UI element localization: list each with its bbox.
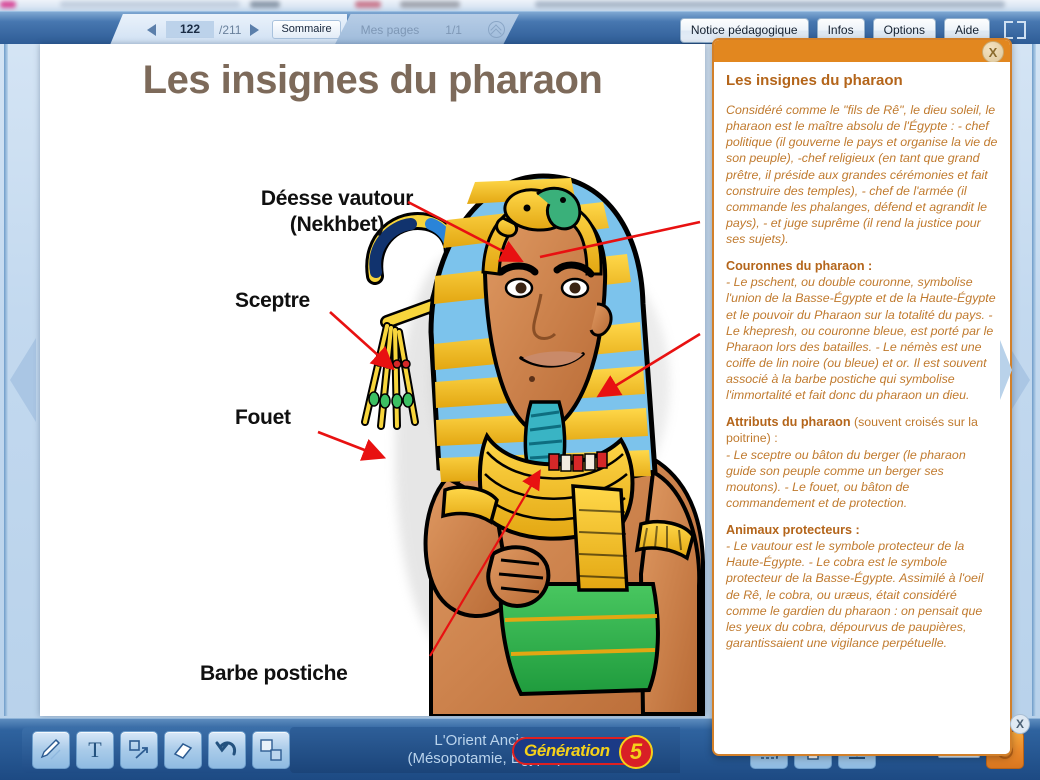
info-heading-text: - Le sceptre ou bâton du berger (le phar… xyxy=(726,448,966,510)
next-page-button[interactable] xyxy=(245,21,263,39)
left-rail xyxy=(4,44,8,716)
info-overlay-panel[interactable]: X Les insignes du pharaon Considéré comm… xyxy=(712,38,1012,756)
mask-squares-icon[interactable] xyxy=(252,731,290,769)
tab-mes-pages[interactable]: Mes pages 1/1 xyxy=(335,14,519,45)
brand-text: Génération xyxy=(524,741,610,761)
page-total-label: /211 xyxy=(218,23,241,37)
callout-deesse-vautour: Déesse vautour (Nekhbet) xyxy=(232,186,442,239)
mes-pages-count: 1/1 xyxy=(445,23,462,37)
chevron-double-up-icon[interactable] xyxy=(488,21,505,38)
close-icon[interactable]: X xyxy=(982,41,1004,63)
shape-arrow-icon[interactable] xyxy=(120,731,158,769)
annotation-tools-group: T xyxy=(22,727,300,773)
info-panel-body[interactable]: Les insignes du pharaon Considéré comme … xyxy=(714,62,1010,754)
info-panel-header: X xyxy=(714,40,1010,62)
generation5-logo[interactable]: Génération 5 xyxy=(512,737,646,765)
info-paragraph: Attributs du pharaon (souvent croisés su… xyxy=(726,414,998,511)
scroll-right-arrow-icon[interactable] xyxy=(1000,340,1012,400)
undo-arrow-icon[interactable] xyxy=(208,731,246,769)
info-heading-text: - Le pschent, ou double couronne, symbol… xyxy=(726,275,996,402)
brand-mark: 5 xyxy=(619,735,653,769)
tab-sommaire[interactable]: Sommaire xyxy=(272,20,340,39)
right-rail xyxy=(1032,44,1036,716)
document-page[interactable]: Les insignes du pharaon xyxy=(40,44,705,716)
page-previous-arrow-icon[interactable] xyxy=(10,338,36,422)
page-number-input[interactable] xyxy=(166,21,214,38)
eraser-icon[interactable] xyxy=(164,731,202,769)
info-heading: Attributs du pharaon xyxy=(726,415,851,429)
callout-sceptre: Sceptre xyxy=(235,289,310,313)
callout-barbe-postiche: Barbe postiche xyxy=(200,662,348,686)
browser-chrome-strip xyxy=(0,0,1040,11)
info-heading: Couronnes du pharaon : xyxy=(726,259,872,273)
application-window: /211 Sommaire Mes pages 1/1 Notice pédag… xyxy=(0,0,1040,780)
info-paragraph: Animaux protecteurs : - Le vautour est l… xyxy=(726,522,998,651)
tab-mes-pages-label: Mes pages xyxy=(361,23,420,37)
text-T-icon[interactable]: T xyxy=(76,731,114,769)
previous-page-button[interactable] xyxy=(144,21,162,39)
tab-left-edge xyxy=(110,14,138,45)
page-navigation-group: /211 Sommaire Mes pages 1/1 xyxy=(110,14,519,45)
pencil-icon[interactable] xyxy=(32,731,70,769)
info-heading-text: - Le vautour est le symbole protecteur d… xyxy=(726,539,983,650)
info-panel-title: Les insignes du pharaon xyxy=(726,72,998,89)
info-paragraph: Couronnes du pharaon : - Le pschent, ou … xyxy=(726,258,998,403)
page-title: Les insignes du pharaon xyxy=(40,58,705,103)
info-heading: Animaux protecteurs : xyxy=(726,523,860,537)
info-paragraph: Considéré comme le "fils de Rê", le dieu… xyxy=(726,102,998,247)
callout-fouet: Fouet xyxy=(235,406,291,430)
bottom-close-icon[interactable]: X xyxy=(1010,714,1030,734)
